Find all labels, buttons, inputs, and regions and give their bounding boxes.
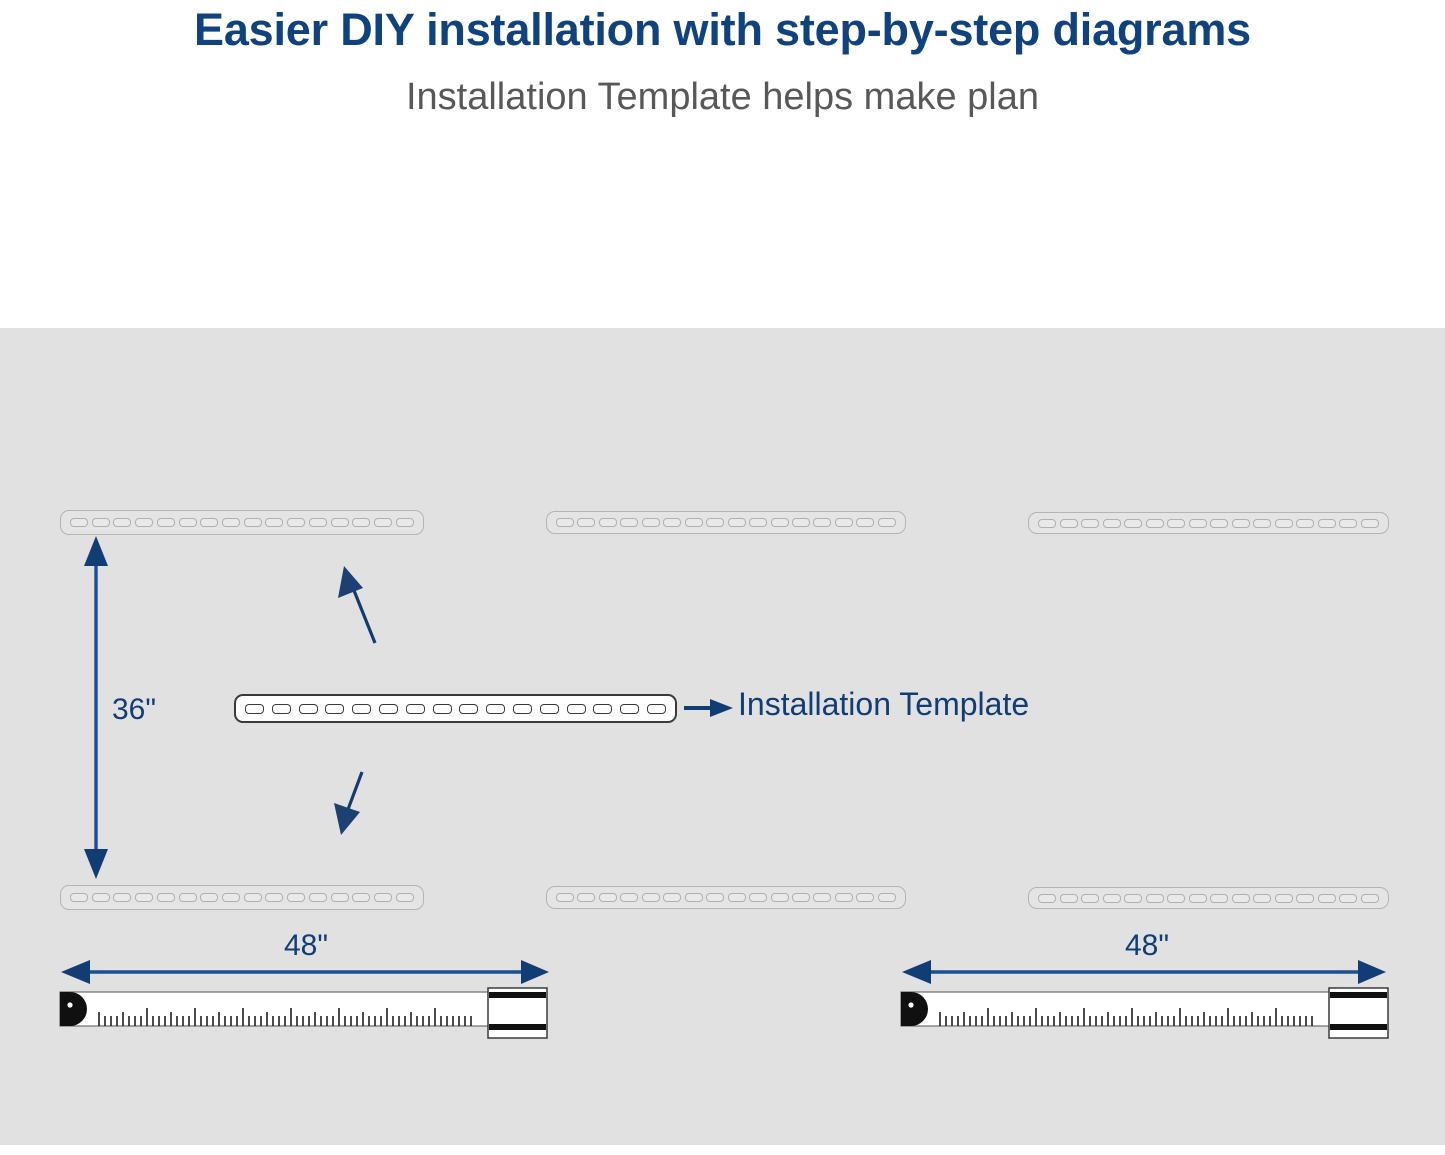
bar-slot xyxy=(878,893,896,902)
mount-bar-bottom-right xyxy=(1028,887,1389,909)
bar-slot xyxy=(1253,894,1271,903)
bar-slot xyxy=(513,704,532,714)
bar-slot xyxy=(272,704,291,714)
bar-slot xyxy=(1189,519,1207,528)
bar-slot xyxy=(856,518,874,527)
bar-slot xyxy=(792,893,810,902)
bar-slot xyxy=(1081,519,1099,528)
bar-slot xyxy=(200,893,218,902)
bar-slot xyxy=(179,518,197,527)
bar-slot xyxy=(593,704,612,714)
bar-slot xyxy=(299,704,318,714)
bar-slot xyxy=(771,893,789,902)
bar-slot xyxy=(433,704,452,714)
bar-slot xyxy=(1124,519,1142,528)
bar-slot xyxy=(379,704,398,714)
bar-slot xyxy=(265,893,283,902)
bar-slot xyxy=(331,518,349,527)
bar-slot xyxy=(813,518,831,527)
bar-slot xyxy=(396,518,414,527)
bar-slot xyxy=(309,518,327,527)
bar-slot xyxy=(1232,894,1250,903)
bar-slot xyxy=(287,518,305,527)
bar-slot xyxy=(599,893,617,902)
bar-slot xyxy=(728,893,746,902)
bar-slot xyxy=(813,893,831,902)
bar-slot xyxy=(1189,894,1207,903)
bar-slot xyxy=(706,518,724,527)
bar-slot xyxy=(577,518,595,527)
bar-slot xyxy=(1275,519,1293,528)
bar-slot xyxy=(1060,519,1078,528)
bar-slot xyxy=(647,704,666,714)
bar-slot xyxy=(157,518,175,527)
bar-slot xyxy=(1124,894,1142,903)
bar-slot xyxy=(1296,894,1314,903)
bar-slot xyxy=(792,518,810,527)
bar-slot xyxy=(642,893,660,902)
bar-slot xyxy=(728,518,746,527)
mount-bar-bottom-center xyxy=(546,886,906,909)
dimension-label-48in-right: 48" xyxy=(1125,929,1169,963)
bar-slot xyxy=(1146,894,1164,903)
mount-bar-top-center xyxy=(546,511,906,534)
bar-slot xyxy=(92,518,110,527)
bar-slot xyxy=(157,893,175,902)
bar-slot xyxy=(245,704,264,714)
bar-slot xyxy=(1146,519,1164,528)
bar-slot xyxy=(685,893,703,902)
bar-slot xyxy=(396,893,414,902)
bar-slot xyxy=(200,518,218,527)
page-title: Easier DIY installation with step-by-ste… xyxy=(0,4,1445,56)
bar-slot xyxy=(92,893,110,902)
bar-slot xyxy=(325,704,344,714)
bar-slot xyxy=(459,704,478,714)
installation-template-callout-label: Installation Template xyxy=(738,686,1029,723)
bar-slot xyxy=(374,893,392,902)
bar-slot xyxy=(352,893,370,902)
bar-slot xyxy=(374,518,392,527)
bar-slot xyxy=(486,704,505,714)
bar-slot xyxy=(1253,519,1271,528)
bar-slot xyxy=(113,518,131,527)
bar-slot xyxy=(1210,519,1228,528)
bar-slot xyxy=(135,518,153,527)
diagram-panel xyxy=(0,328,1445,1145)
bar-slot xyxy=(1296,519,1314,528)
bar-slot xyxy=(1103,519,1121,528)
bar-slot xyxy=(878,518,896,527)
bar-slot xyxy=(835,518,853,527)
bar-slot xyxy=(1167,519,1185,528)
bar-slot xyxy=(1210,894,1228,903)
bar-slot xyxy=(1339,894,1357,903)
bar-slot xyxy=(309,893,327,902)
bar-slot xyxy=(1103,894,1121,903)
bar-slot xyxy=(577,893,595,902)
bar-slot xyxy=(556,518,574,527)
bar-slot xyxy=(70,518,88,527)
bar-slot xyxy=(856,893,874,902)
bar-slot xyxy=(663,893,681,902)
bar-slot xyxy=(179,893,197,902)
bar-slot xyxy=(287,893,305,902)
bar-slot xyxy=(749,518,767,527)
bar-slot xyxy=(706,893,724,902)
mount-bar-bottom-left xyxy=(60,885,424,910)
bar-slot xyxy=(1038,894,1056,903)
bar-slot xyxy=(1339,519,1357,528)
bar-slot xyxy=(1167,894,1185,903)
bar-slot xyxy=(406,704,425,714)
bar-slot xyxy=(599,518,617,527)
bar-slot xyxy=(771,518,789,527)
bar-slot xyxy=(620,704,639,714)
bar-slot xyxy=(642,518,660,527)
bar-slot xyxy=(1038,519,1056,528)
mount-bar-top-right xyxy=(1028,512,1389,534)
bar-slot xyxy=(749,893,767,902)
bar-slot xyxy=(1060,894,1078,903)
bar-slot xyxy=(685,518,703,527)
bar-slot xyxy=(567,704,586,714)
page-subtitle: Installation Template helps make plan xyxy=(0,76,1445,119)
bar-slot xyxy=(620,893,638,902)
dimension-label-48in-left: 48" xyxy=(284,929,328,963)
bar-slot xyxy=(1318,519,1336,528)
bar-slot xyxy=(1361,894,1379,903)
bar-slot xyxy=(244,518,262,527)
bar-slot xyxy=(222,893,240,902)
bar-slot xyxy=(556,893,574,902)
bar-slot xyxy=(222,518,240,527)
bar-slot xyxy=(1361,519,1379,528)
bar-slot xyxy=(352,704,371,714)
bar-slot xyxy=(135,893,153,902)
bar-slot xyxy=(1275,894,1293,903)
bar-slot xyxy=(663,518,681,527)
bar-slot xyxy=(352,518,370,527)
mount-bar-top-left xyxy=(60,510,424,535)
header: Easier DIY installation with step-by-ste… xyxy=(0,0,1445,150)
bar-slot xyxy=(70,893,88,902)
installation-template-bar xyxy=(234,694,677,723)
bar-slot xyxy=(1318,894,1336,903)
bar-slot xyxy=(331,893,349,902)
bar-slot xyxy=(244,893,262,902)
bar-slot xyxy=(620,518,638,527)
bar-slot xyxy=(113,893,131,902)
bar-slot xyxy=(540,704,559,714)
bar-slot xyxy=(835,893,853,902)
dimension-label-36in: 36" xyxy=(112,693,156,727)
bar-slot xyxy=(265,518,283,527)
bar-slot xyxy=(1081,894,1099,903)
bar-slot xyxy=(1232,519,1250,528)
